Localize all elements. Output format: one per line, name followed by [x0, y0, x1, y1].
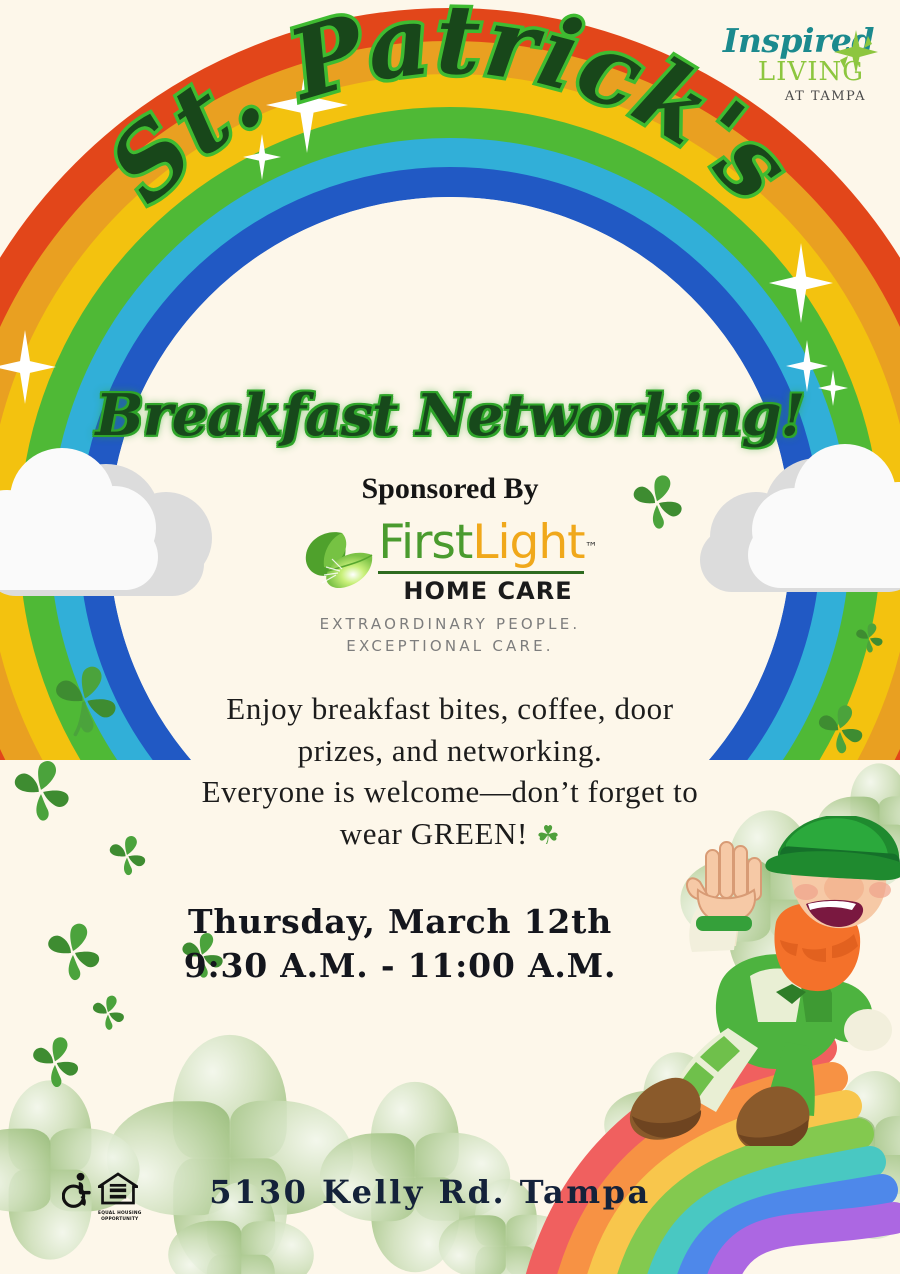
description-line-4-text: wear GREEN!	[340, 816, 528, 851]
shamrock-icon	[6, 755, 76, 831]
eho-line-2: OPPORTUNITY	[98, 1217, 142, 1223]
watercolor-clover	[0, 1090, 130, 1250]
firstlight-name-part1: First	[378, 515, 472, 570]
shamrock-icon	[40, 918, 106, 990]
event-description: Enjoy breakfast bites, coffee, door priz…	[120, 688, 780, 854]
trademark-symbol: ™	[585, 541, 598, 556]
event-datetime: Thursday, March 12th 9:30 A.M. - 11:00 A…	[120, 900, 680, 988]
firstlight-name-part2: Light	[472, 515, 584, 570]
shamrock-icon	[26, 1032, 84, 1096]
shamrock-icon	[812, 700, 868, 762]
accessibility-icon	[62, 1172, 92, 1213]
sponsored-by-label: Sponsored By	[0, 472, 900, 506]
firstlight-leaf-icon	[302, 527, 376, 593]
event-address: 5130 Kelly Rd. Tampa	[150, 1173, 710, 1211]
flyer-poster: St. Patrick's Breakfast Networking! Spon…	[0, 0, 900, 1274]
event-date: Thursday, March 12th	[120, 900, 680, 944]
firstlight-logo: FirstLight™ HOME CARE EXTRAORDINARY PEOP…	[0, 515, 900, 658]
starburst-icon	[834, 30, 878, 74]
brand-location: AT TAMPA	[694, 89, 874, 104]
compliance-icons: EQUAL HOUSING OPPORTUNITY	[62, 1172, 142, 1222]
description-line-4: wear GREEN! ☘	[120, 813, 780, 855]
equal-housing-icon: EQUAL HOUSING OPPORTUNITY	[98, 1172, 142, 1222]
inspired-living-logo: Inspired LIVING AT TAMPA	[694, 24, 874, 104]
eho-line-1: EQUAL HOUSING	[98, 1211, 142, 1217]
firstlight-tagline-line2: EXCEPTIONAL CARE.	[0, 636, 900, 658]
four-leaf-clover-icon: ☘	[536, 821, 560, 851]
logo-underline	[378, 571, 583, 574]
firstlight-tagline-line1: EXTRAORDINARY PEOPLE.	[0, 614, 900, 636]
description-line-2: prizes, and networking.	[120, 730, 780, 772]
title-line2: Breakfast Networking!	[0, 382, 900, 449]
firstlight-subtitle: HOME CARE	[378, 577, 597, 605]
description-line-1: Enjoy breakfast bites, coffee, door	[120, 688, 780, 730]
shamrock-icon	[88, 992, 128, 1036]
description-line-3: Everyone is welcome—don’t forget to	[120, 771, 780, 813]
shamrock-icon	[46, 660, 124, 744]
event-time: 9:30 A.M. - 11:00 A.M.	[120, 944, 680, 988]
